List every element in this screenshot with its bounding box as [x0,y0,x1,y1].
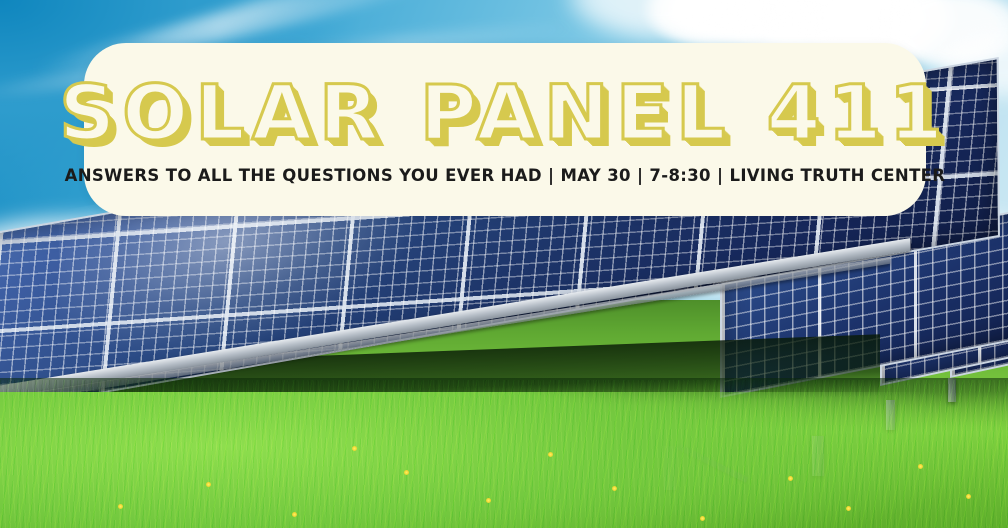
dandelion [700,516,705,521]
poster-canvas: SOLAR PANEL 411 ANSWERS TO ALL THE QUEST… [0,0,1008,528]
event-details-line: ANSWERS TO ALL THE QUESTIONS YOU EVER HA… [65,166,946,185]
dandelion [612,486,617,491]
dandelion [404,470,409,475]
dandelion [846,506,851,511]
dandelion [966,494,971,499]
dandelion [486,498,491,503]
grass-blade-texture [0,380,1008,528]
page-title: SOLAR PANEL 411 [60,76,951,150]
dandelion [548,452,553,457]
dandelion [918,464,923,469]
dandelion [352,446,357,451]
title-card: SOLAR PANEL 411 ANSWERS TO ALL THE QUEST… [84,43,926,216]
dandelion [292,512,297,517]
dandelion [788,476,793,481]
dandelion [118,504,123,509]
dandelion [206,482,211,487]
